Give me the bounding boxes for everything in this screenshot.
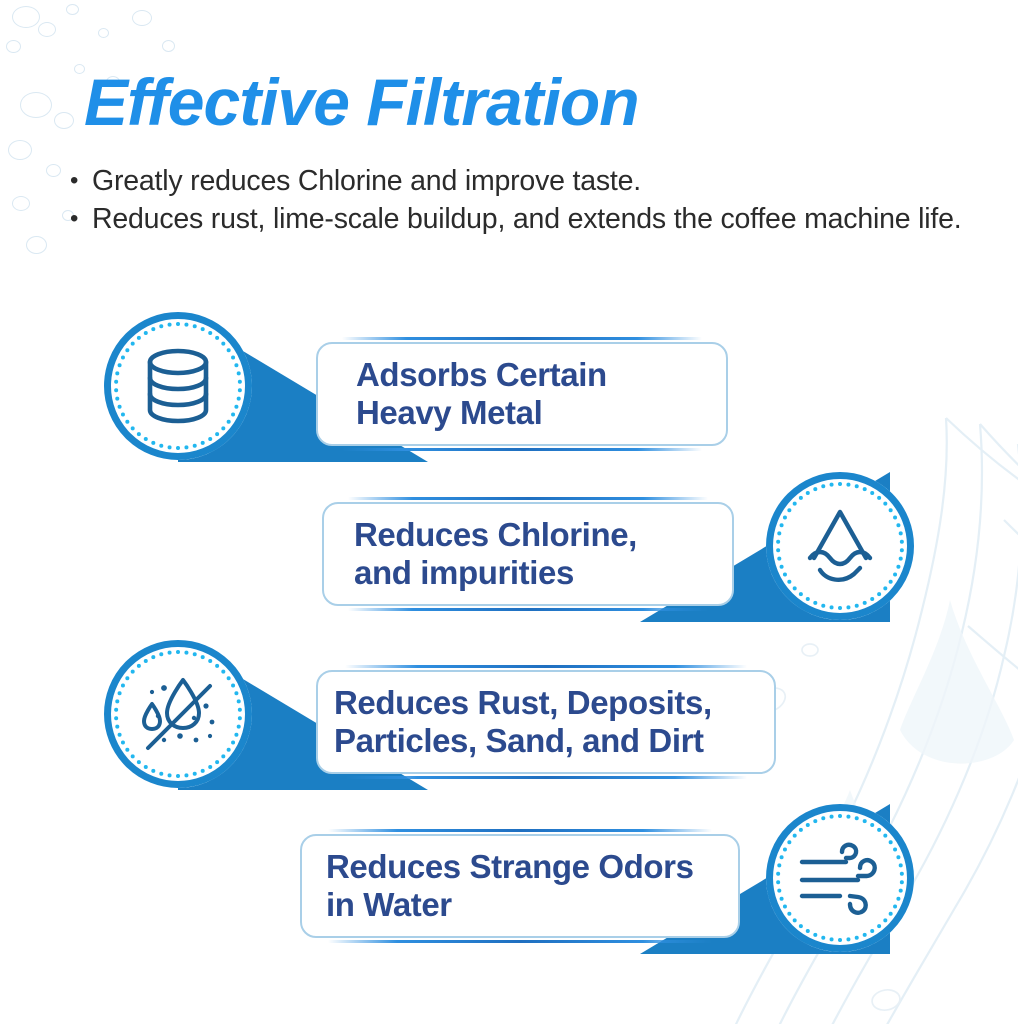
database-cylinder-icon (141, 346, 215, 426)
bullet-marker: • (70, 201, 92, 237)
feature-badge[interactable] (766, 804, 914, 952)
feature-list: Adsorbs Certain Heavy Metal (0, 312, 1018, 964)
feature-label: Reduces Rust, Deposits, Particles, Sand,… (334, 684, 712, 761)
water-drop-waves-icon (798, 504, 882, 588)
bullet-text: Reduces rust, lime-scale buildup, and ex… (92, 201, 970, 239)
feature-badge[interactable] (766, 472, 914, 620)
bullet-marker: • (70, 163, 92, 199)
page-title: Effective Filtration (84, 64, 639, 140)
feature-badge[interactable] (104, 640, 252, 788)
feature-row-heavy-metal: Adsorbs Certain Heavy Metal (0, 312, 1018, 472)
list-item: • Greatly reduces Chlorine and improve t… (70, 163, 970, 201)
feature-panel[interactable]: Adsorbs Certain Heavy Metal (316, 342, 728, 446)
wind-odor-icon (796, 838, 884, 918)
feature-panel[interactable]: Reduces Rust, Deposits, Particles, Sand,… (316, 670, 776, 774)
feature-label: Reduces Chlorine, and impurities (354, 516, 637, 593)
feature-panel[interactable]: Reduces Chlorine, and impurities (322, 502, 734, 606)
feature-label: Reduces Strange Odors in Water (326, 848, 694, 925)
feature-label: Adsorbs Certain Heavy Metal (356, 356, 607, 433)
no-droplet-particles-icon (134, 670, 222, 758)
feature-row-rust-deposits: Reduces Rust, Deposits, Particles, Sand,… (0, 640, 1018, 804)
feature-row-chlorine: Reduces Chlorine, and impurities (0, 472, 1018, 640)
bullet-text: Greatly reduces Chlorine and improve tas… (92, 163, 970, 201)
list-item: • Reduces rust, lime-scale buildup, and … (70, 201, 970, 239)
feature-panel[interactable]: Reduces Strange Odors in Water (300, 834, 740, 938)
feature-badge[interactable] (104, 312, 252, 460)
poster-background: Effective Filtration • Greatly reduces C… (0, 0, 1018, 1024)
bullet-list: • Greatly reduces Chlorine and improve t… (70, 163, 970, 239)
feature-row-odors: Reduces Strange Odors in Water (0, 804, 1018, 964)
